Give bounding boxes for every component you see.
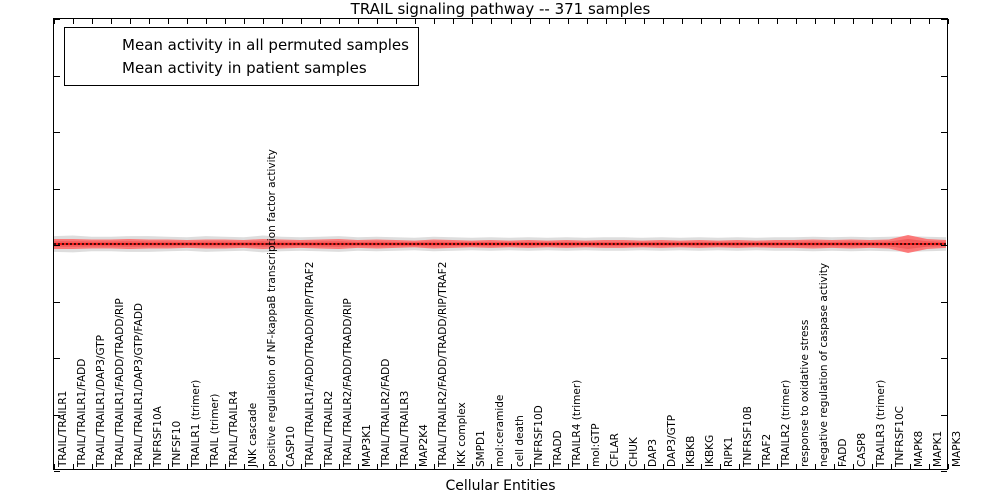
- x-tick-mark: [511, 19, 512, 24]
- legend-item-permuted: Mean activity in all permuted samples: [74, 33, 409, 56]
- x-tick-label: MAPK1: [933, 431, 943, 467]
- x-tick-mark: [625, 19, 626, 24]
- x-tick-mark: [491, 464, 492, 469]
- x-tick-mark: [834, 464, 835, 469]
- x-tick-mark: [263, 464, 264, 469]
- x-tick-mark: [853, 19, 854, 24]
- x-tick-label: TNFSF10: [172, 421, 182, 467]
- y-tick-mark: [941, 132, 947, 133]
- x-tick-mark: [168, 19, 169, 24]
- x-tick-label: TRAIL/TRAILR2: [324, 391, 334, 467]
- x-tick-mark: [910, 464, 911, 469]
- x-tick-mark: [720, 19, 721, 24]
- x-tick-label: TRAIL/TRAILR2/FADD/TRADD/RIP: [343, 298, 353, 467]
- x-tick-mark: [130, 19, 131, 24]
- y-tick-mark: [941, 19, 947, 20]
- y-tick-mark: [941, 358, 947, 359]
- x-tick-label: TRAIL/TRAILR2/FADD/TRADD/RIP/TRAF2: [438, 262, 448, 467]
- x-tick-mark: [263, 19, 264, 24]
- y-tick-mark: [941, 189, 947, 190]
- x-tick-mark: [815, 464, 816, 469]
- x-tick-mark: [891, 464, 892, 469]
- x-tick-mark: [549, 464, 550, 469]
- x-tick-mark: [244, 19, 245, 24]
- x-tick-mark: [206, 19, 207, 24]
- x-tick-mark: [891, 19, 892, 24]
- x-tick-mark: [606, 464, 607, 469]
- x-tick-label: TRAIL/TRAILR1/FADD/TRADD/RIP/TRAF2: [305, 262, 315, 467]
- x-tick-mark: [282, 19, 283, 24]
- x-tick-label: TRAIL/TRAILR2/FADD: [381, 359, 391, 467]
- x-tick-mark: [377, 464, 378, 469]
- x-tick-mark: [339, 464, 340, 469]
- x-tick-label: CHUK: [629, 437, 639, 467]
- x-tick-label: IKK complex: [457, 402, 467, 467]
- x-tick-label: CASP10: [286, 426, 296, 467]
- x-tick-mark: [929, 19, 930, 24]
- legend-label-patient: Mean activity in patient samples: [122, 59, 367, 77]
- x-tick-mark: [54, 19, 55, 24]
- y-tick-mark: [941, 415, 947, 416]
- x-tick-mark: [225, 464, 226, 469]
- y-tick-mark: [54, 189, 60, 190]
- x-tick-mark: [301, 19, 302, 24]
- x-tick-mark: [92, 19, 93, 24]
- x-tick-label: TRAIL/TRAILR1/FADD: [77, 359, 87, 467]
- x-tick-label: TRAF2: [762, 434, 772, 467]
- x-tick-mark: [549, 19, 550, 24]
- x-tick-label: cell death: [515, 415, 525, 467]
- x-tick-label: MAPK8: [914, 431, 924, 467]
- x-tick-mark: [415, 19, 416, 24]
- x-tick-mark: [472, 19, 473, 24]
- x-tick-label: MAP3K1: [362, 424, 372, 467]
- x-tick-label: RIPK1: [724, 437, 734, 467]
- x-tick-mark: [929, 464, 930, 469]
- x-tick-mark: [739, 19, 740, 24]
- x-tick-label: TNFRSF10D: [534, 405, 544, 467]
- x-tick-mark: [111, 464, 112, 469]
- x-tick-mark: [358, 464, 359, 469]
- x-tick-label: positive regulation of NF-kappaB transcr…: [267, 149, 277, 467]
- x-tick-mark: [910, 19, 911, 24]
- x-tick-mark: [663, 19, 664, 24]
- y-tick-mark: [54, 132, 60, 133]
- x-tick-label: TNFRSF10B: [743, 406, 753, 467]
- x-tick-mark: [206, 464, 207, 469]
- y-tick-mark: [54, 302, 60, 303]
- x-tick-mark: [491, 19, 492, 24]
- y-tick-mark: [941, 471, 947, 472]
- x-tick-mark: [739, 464, 740, 469]
- x-tick-mark: [644, 19, 645, 24]
- x-tick-label: TRAIL/TRAILR3: [400, 391, 410, 467]
- x-tick-mark: [777, 19, 778, 24]
- x-tick-label: TRAIL/TRAILR4: [229, 391, 239, 467]
- x-tick-mark: [948, 19, 949, 24]
- y-tick-mark: [54, 76, 60, 77]
- x-tick-mark: [758, 464, 759, 469]
- x-tick-mark: [568, 464, 569, 469]
- x-tick-label: DAP3: [648, 439, 658, 467]
- x-tick-mark: [320, 464, 321, 469]
- x-tick-mark: [511, 464, 512, 469]
- x-tick-label: TNFRSF10A: [153, 406, 163, 467]
- plot-area: −4−3−2−101234 TRAIL/TRAILR1TRAIL/TRAILR1…: [53, 18, 948, 470]
- x-tick-label: SMPD1: [476, 430, 486, 467]
- x-tick-mark: [130, 464, 131, 469]
- x-tick-label: IKBKG: [705, 435, 715, 467]
- x-tick-mark: [587, 19, 588, 24]
- x-tick-label: MAP2K4: [419, 424, 429, 467]
- x-tick-mark: [453, 464, 454, 469]
- x-tick-mark: [530, 19, 531, 24]
- x-tick-mark: [472, 464, 473, 469]
- x-tick-label: DAP3/GTP: [667, 415, 677, 467]
- x-tick-mark: [320, 19, 321, 24]
- x-tick-mark: [396, 464, 397, 469]
- x-tick-mark: [682, 464, 683, 469]
- y-tick-mark: [54, 358, 60, 359]
- x-tick-mark: [853, 464, 854, 469]
- x-tick-mark: [54, 464, 55, 469]
- y-tick-mark: [941, 302, 947, 303]
- x-tick-mark: [92, 464, 93, 469]
- x-tick-label: TNFRSF10C: [895, 406, 905, 467]
- x-tick-label: TRAIL/TRAILR1/FADD/TRADD/RIP: [115, 298, 125, 467]
- x-tick-mark: [872, 19, 873, 24]
- x-tick-label: mol:ceramide: [495, 395, 505, 467]
- x-tick-mark: [396, 19, 397, 24]
- x-tick-mark: [777, 464, 778, 469]
- x-tick-label: JNK cascade: [248, 403, 258, 467]
- x-tick-mark: [244, 464, 245, 469]
- x-tick-mark: [434, 19, 435, 24]
- x-tick-mark: [663, 464, 664, 469]
- x-tick-mark: [453, 19, 454, 24]
- x-tick-mark: [587, 464, 588, 469]
- y-tick-mark: [54, 245, 60, 246]
- y-tick-mark: [941, 76, 947, 77]
- x-tick-mark: [168, 464, 169, 469]
- x-tick-mark: [796, 464, 797, 469]
- x-tick-mark: [644, 464, 645, 469]
- x-tick-label: TRAILR3 (trimer): [876, 380, 886, 467]
- x-tick-mark: [377, 19, 378, 24]
- x-tick-mark: [872, 464, 873, 469]
- x-tick-mark: [282, 464, 283, 469]
- x-tick-label: TRAILR2 (trimer): [781, 380, 791, 467]
- x-tick-mark: [606, 19, 607, 24]
- y-tick-mark: [941, 245, 947, 246]
- x-tick-label: TRAIL/TRAILR1/DAP3/GTP/FADD: [134, 303, 144, 467]
- x-tick-mark: [796, 19, 797, 24]
- legend-item-patient: Mean activity in patient samples: [74, 56, 409, 79]
- x-tick-mark: [187, 19, 188, 24]
- x-tick-mark: [625, 464, 626, 469]
- chart-figure: TRAIL signaling pathway -- 371 samples −…: [0, 0, 1000, 500]
- x-tick-label: IKBKB: [686, 436, 696, 467]
- x-tick-label: TRADD: [553, 430, 563, 467]
- x-tick-mark: [758, 19, 759, 24]
- x-tick-mark: [225, 19, 226, 24]
- x-axis-title: Cellular Entities: [53, 478, 948, 494]
- x-tick-mark: [530, 464, 531, 469]
- x-tick-label: CASP8: [857, 433, 867, 467]
- x-tick-mark: [149, 19, 150, 24]
- x-tick-label: TRAIL (trimer): [210, 394, 220, 467]
- x-tick-label: TRAIL/TRAILR1: [58, 391, 68, 467]
- x-tick-mark: [682, 19, 683, 24]
- x-tick-label: MAPK3: [952, 431, 962, 467]
- x-tick-mark: [701, 19, 702, 24]
- x-tick-mark: [73, 19, 74, 24]
- x-tick-mark: [815, 19, 816, 24]
- chart-title: TRAIL signaling pathway -- 371 samples: [53, 0, 948, 18]
- x-tick-mark: [358, 19, 359, 24]
- x-tick-mark: [948, 464, 949, 469]
- x-tick-mark: [720, 464, 721, 469]
- x-tick-mark: [834, 19, 835, 24]
- x-tick-mark: [187, 464, 188, 469]
- x-tick-label: response to oxidative stress: [800, 320, 810, 467]
- x-tick-mark: [701, 464, 702, 469]
- y-tick-mark: [54, 471, 60, 472]
- x-tick-mark: [339, 19, 340, 24]
- x-tick-mark: [73, 464, 74, 469]
- x-tick-label: CFLAR: [610, 433, 620, 467]
- chart-legend: Mean activity in all permuted samples Me…: [64, 27, 419, 86]
- x-tick-mark: [301, 464, 302, 469]
- x-tick-mark: [568, 19, 569, 24]
- x-tick-mark: [434, 464, 435, 469]
- legend-label-permuted: Mean activity in all permuted samples: [122, 36, 409, 54]
- x-tick-label: FADD: [838, 439, 848, 467]
- x-tick-label: negative regulation of caspase activity: [819, 263, 829, 467]
- x-tick-mark: [149, 464, 150, 469]
- x-tick-label: TRAILR4 (trimer): [572, 380, 582, 467]
- x-tick-mark: [415, 464, 416, 469]
- x-tick-label: TRAIL/TRAILR1/DAP3/GTP: [96, 335, 106, 467]
- x-tick-label: mol:GTP: [591, 423, 601, 467]
- x-tick-mark: [111, 19, 112, 24]
- x-tick-label: TRAILR1 (trimer): [191, 380, 201, 467]
